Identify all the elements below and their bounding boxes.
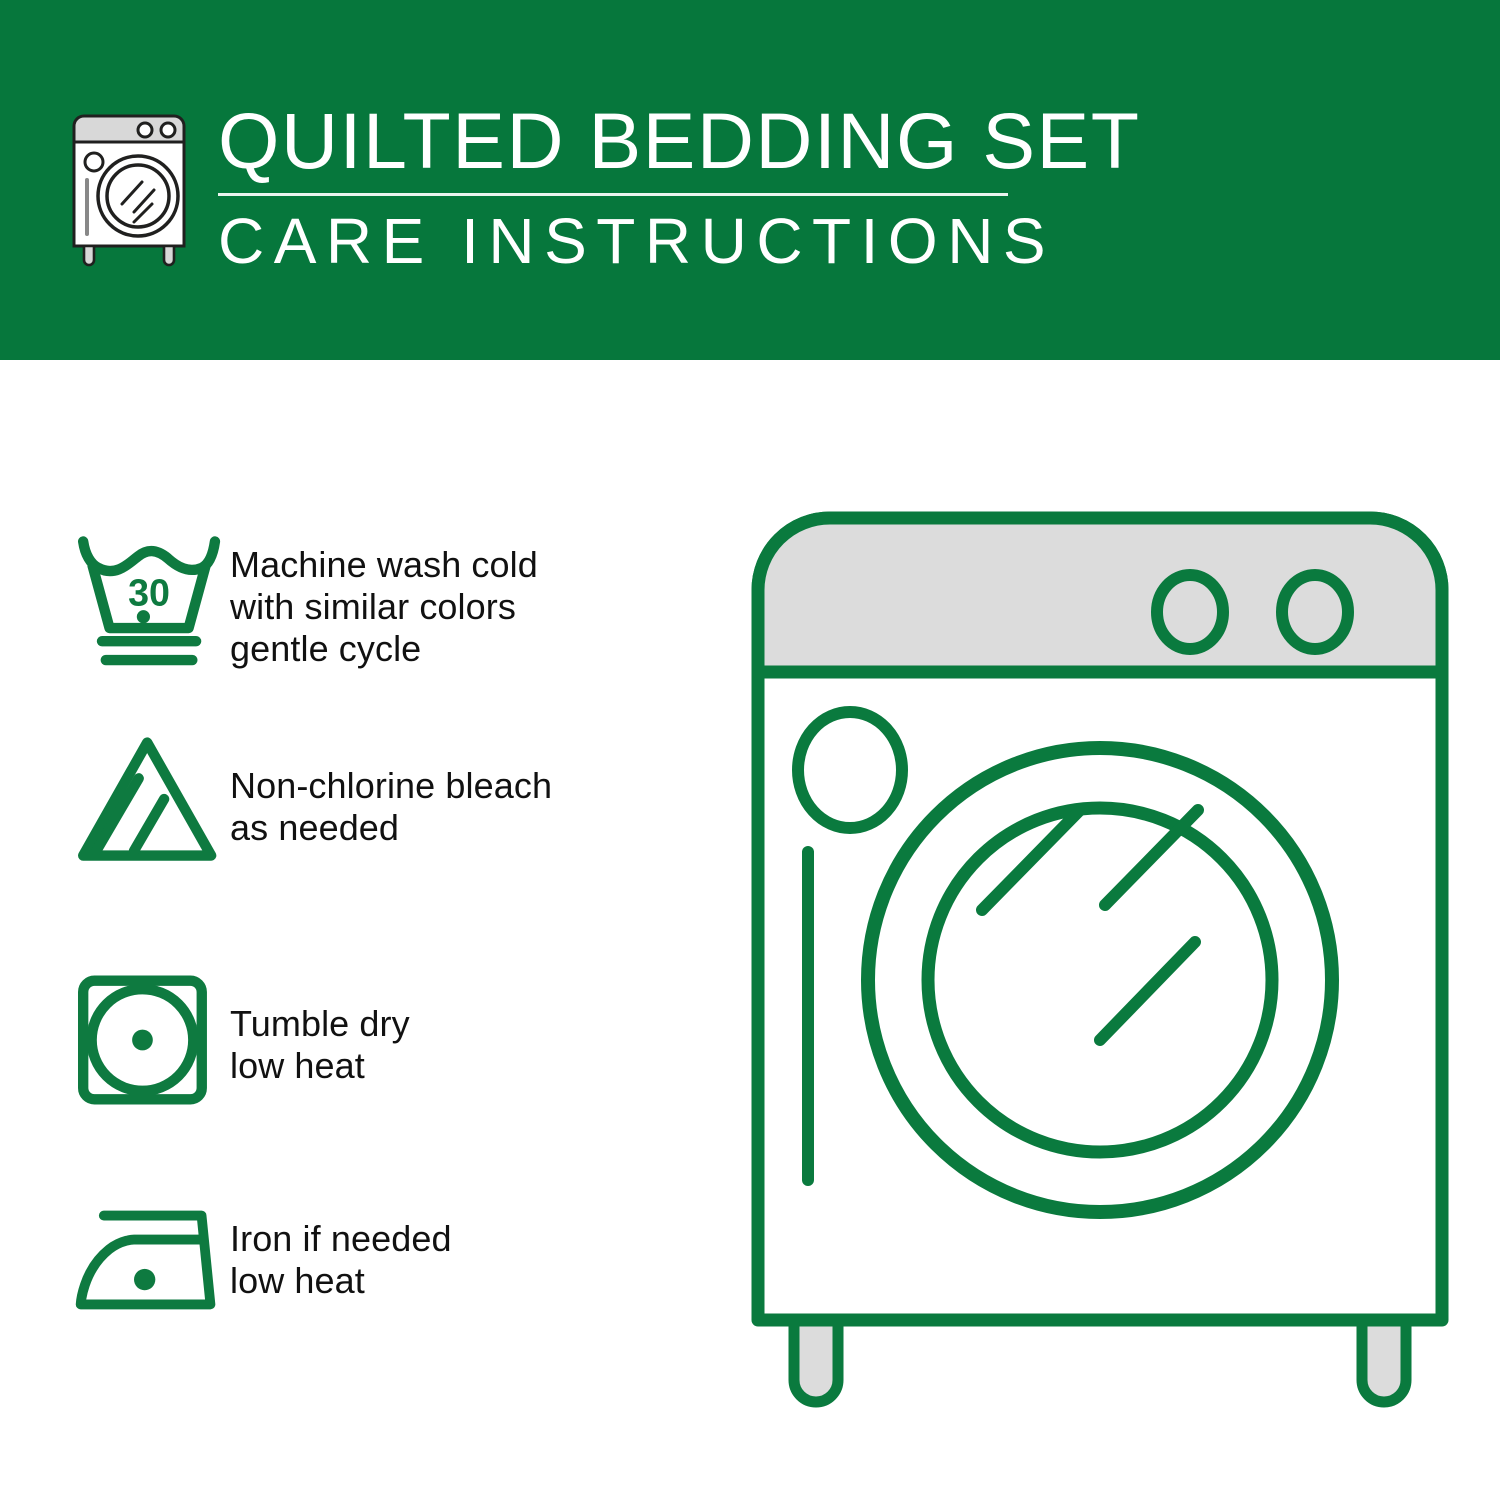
front-load-washing-machine-illustration (740, 480, 1460, 1440)
header-band: QUILTED BEDDING SET CARE INSTRUCTIONS (0, 0, 1500, 360)
iron-low-heat-icon (0, 1190, 230, 1330)
wash-tub-30-gentle-icon: 30 (0, 522, 230, 672)
tumble-dry-low-icon (0, 965, 230, 1115)
washing-machine-logo-icon (62, 104, 212, 272)
care-instructions-page: QUILTED BEDDING SET CARE INSTRUCTIONS 30 (0, 0, 1500, 1500)
care-row-machine-wash: 30 Machine wash cold with similar colors… (0, 522, 720, 672)
care-text-tumble-dry: Tumble dry low heat (230, 965, 410, 1087)
header-text-block: QUILTED BEDDING SET CARE INSTRUCTIONS (218, 98, 1028, 278)
page-title: QUILTED BEDDING SET (218, 98, 1028, 184)
title-divider (218, 193, 1008, 196)
care-text-iron: Iron if needed low heat (230, 1190, 452, 1302)
care-row-iron: Iron if needed low heat (0, 1190, 720, 1330)
non-chlorine-bleach-triangle-icon (0, 725, 230, 875)
care-row-bleach: Non-chlorine bleach as needed (0, 725, 720, 875)
care-row-tumble-dry: Tumble dry low heat (0, 965, 720, 1115)
svg-text:30: 30 (128, 571, 170, 613)
page-subtitle: CARE INSTRUCTIONS (218, 204, 1028, 278)
care-text-machine-wash: Machine wash cold with similar colors ge… (230, 522, 538, 670)
care-text-bleach: Non-chlorine bleach as needed (230, 725, 552, 849)
